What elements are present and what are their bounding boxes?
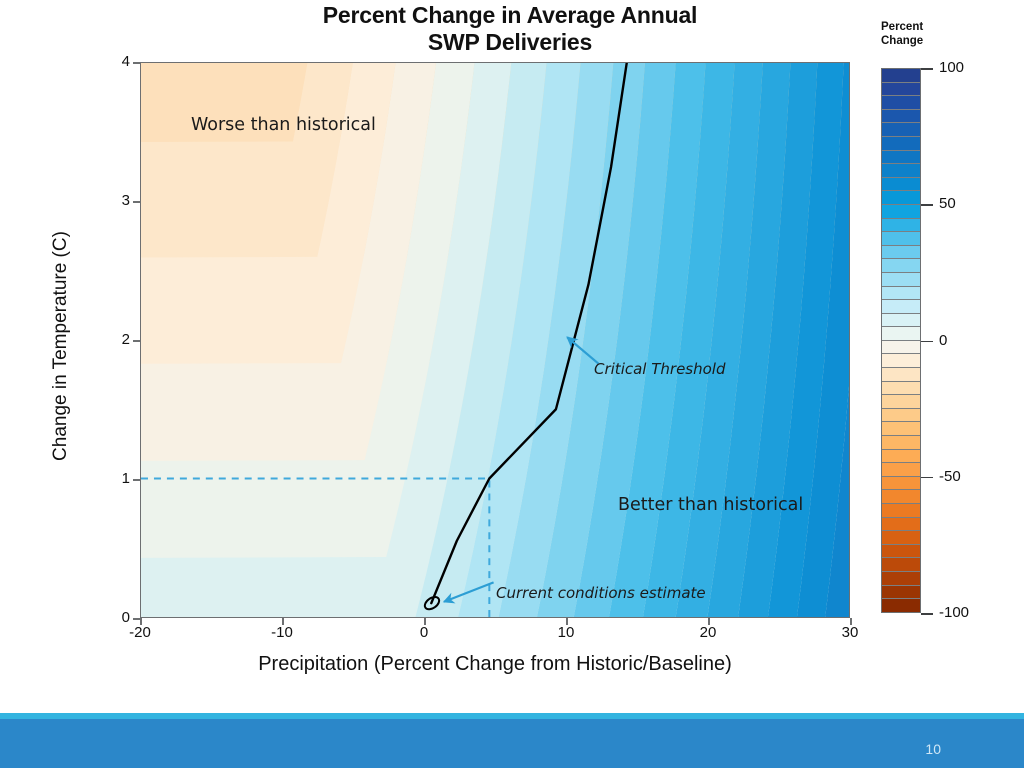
colorbar-tick-label: 50 <box>939 195 956 212</box>
colorbar-bands <box>881 68 921 613</box>
colorbar-band <box>882 69 920 83</box>
colorbar-title: Percent Change <box>881 20 923 49</box>
colorbar-band <box>882 327 920 341</box>
colorbar-band <box>882 531 920 545</box>
colorbar-band <box>882 545 920 559</box>
critical-threshold-line <box>431 63 626 603</box>
colorbar-band <box>882 219 920 233</box>
plot-overlay <box>141 63 849 617</box>
x-tick-label: 0 <box>401 624 447 641</box>
colorbar-band <box>882 572 920 586</box>
colorbar-band <box>882 83 920 97</box>
colorbar-band <box>882 191 920 205</box>
colorbar-band <box>882 477 920 491</box>
colorbar-tick <box>921 613 933 615</box>
colorbar-band <box>882 137 920 151</box>
y-tick-mark <box>133 618 140 620</box>
colorbar-band <box>882 259 920 273</box>
annotation-critical-threshold: Critical Threshold <box>594 360 725 378</box>
colorbar-band <box>882 232 920 246</box>
y-axis-title: Change in Temperature (C) <box>50 126 72 566</box>
colorbar-band <box>882 463 920 477</box>
colorbar-band <box>882 409 920 423</box>
y-tick-mark <box>133 340 140 342</box>
y-tick-label: 2 <box>108 331 130 348</box>
y-tick-mark <box>133 479 140 481</box>
colorbar-tick <box>921 341 933 343</box>
chart-title: Percent Change in Average Annual SWP Del… <box>200 2 820 56</box>
colorbar-band <box>882 300 920 314</box>
colorbar-tick <box>921 477 933 479</box>
colorbar-tick-label: 0 <box>939 332 947 349</box>
colorbar: Percent Change 100500-50-100 <box>881 62 1024 618</box>
banner-accent-stripe <box>0 713 1024 719</box>
plot-area: Worse than historical Better than histor… <box>140 62 850 618</box>
colorbar-band <box>882 558 920 572</box>
colorbar-band <box>882 599 920 612</box>
colorbar-band <box>882 151 920 165</box>
colorbar-band <box>882 287 920 301</box>
colorbar-band <box>882 273 920 287</box>
colorbar-band <box>882 341 920 355</box>
colorbar-band <box>882 164 920 178</box>
x-tick-label: -20 <box>117 624 163 641</box>
x-tick-label: 30 <box>827 624 873 641</box>
slide-canvas: Percent Change in Average Annual SWP Del… <box>0 0 1024 768</box>
colorbar-band <box>882 205 920 219</box>
colorbar-band <box>882 395 920 409</box>
colorbar-band <box>882 586 920 600</box>
colorbar-band <box>882 96 920 110</box>
x-tick-label: -10 <box>259 624 305 641</box>
x-tick-label: 10 <box>543 624 589 641</box>
colorbar-band <box>882 178 920 192</box>
annotation-better-than-historical: Better than historical <box>618 495 803 515</box>
y-tick-label: 0 <box>108 609 130 626</box>
y-tick-label: 3 <box>108 192 130 209</box>
y-tick-label: 4 <box>108 53 130 70</box>
colorbar-tick-label: 100 <box>939 59 964 76</box>
x-axis-title: Precipitation (Percent Change from Histo… <box>140 653 850 676</box>
colorbar-band <box>882 490 920 504</box>
annotation-current-conditions-estimate: Current conditions estimate <box>496 584 706 602</box>
colorbar-band <box>882 436 920 450</box>
colorbar-band <box>882 246 920 260</box>
y-tick-mark <box>133 201 140 203</box>
colorbar-band <box>882 123 920 137</box>
page-number: 10 <box>925 741 941 757</box>
colorbar-tick <box>921 204 933 206</box>
colorbar-band <box>882 422 920 436</box>
colorbar-band <box>882 518 920 532</box>
colorbar-tick-label: -50 <box>939 468 961 485</box>
y-tick-label: 1 <box>108 470 130 487</box>
current-conditions-estimate-arrow <box>444 582 494 601</box>
colorbar-band <box>882 354 920 368</box>
slide-footer-banner: 10 <box>0 713 1024 768</box>
y-tick-mark <box>133 62 140 64</box>
colorbar-band <box>882 450 920 464</box>
colorbar-band <box>882 504 920 518</box>
colorbar-tick <box>921 68 933 70</box>
colorbar-band <box>882 382 920 396</box>
annotation-worse-than-historical: Worse than historical <box>191 115 376 135</box>
colorbar-band <box>882 368 920 382</box>
x-tick-label: 20 <box>685 624 731 641</box>
colorbar-tick-label: -100 <box>939 604 969 621</box>
colorbar-band <box>882 314 920 328</box>
colorbar-band <box>882 110 920 124</box>
